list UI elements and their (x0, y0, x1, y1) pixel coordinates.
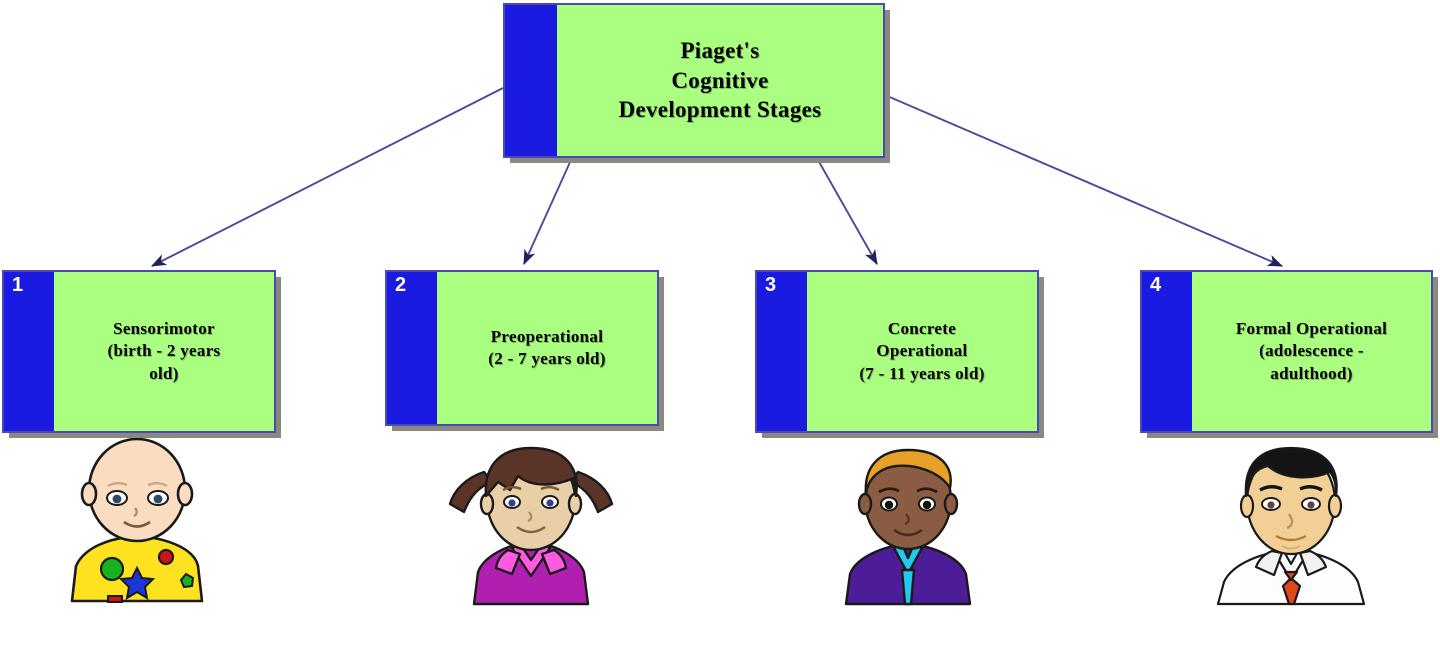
connector-title-to-stage-3 (818, 160, 877, 264)
stage-3-label: Concrete Operational (7 - 11 years old) (859, 318, 984, 384)
stage-3-line-1: Concrete (859, 318, 984, 340)
boy-illustration (828, 438, 988, 606)
young-girl-illustration (448, 438, 614, 606)
stage-box-2[interactable]: 2 Preoperational (2 - 7 years old) (385, 270, 659, 426)
stage-4-accent-bar: 4 (1142, 272, 1192, 431)
stage-2-line-2: (2 - 7 years old) (488, 348, 605, 370)
stage-4-line-3: adulthood) (1236, 363, 1387, 385)
page-title: Piaget's Cognitive Development Stages (619, 36, 822, 126)
stage-2-number: 2 (395, 275, 406, 295)
stage-1-body: Sensorimotor (birth - 2 years old) (54, 272, 274, 431)
connector-title-to-stage-2 (524, 160, 571, 264)
stage-4-label: Formal Operational (adolescence - adulth… (1236, 318, 1387, 384)
title-line-3: Development Stages (619, 95, 822, 125)
stage-2-accent-bar: 2 (387, 272, 437, 424)
stage-4-body: Formal Operational (adolescence - adulth… (1192, 272, 1431, 431)
connector-title-to-stage-4 (885, 95, 1282, 266)
title-box-accent-bar (505, 5, 557, 156)
title-box-body: Piaget's Cognitive Development Stages (557, 5, 883, 156)
stage-box-3[interactable]: 3 Concrete Operational (7 - 11 years old… (755, 270, 1039, 433)
stage-1-label: Sensorimotor (birth - 2 years old) (108, 318, 221, 384)
stage-4-line-2: (adolescence - (1236, 340, 1387, 362)
stage-2-line-1: Preoperational (488, 326, 605, 348)
stage-1-number: 1 (12, 275, 23, 295)
title-line-1: Piaget's (619, 36, 822, 66)
stage-1-line-3: old) (108, 363, 221, 385)
stage-4-line-1: Formal Operational (1236, 318, 1387, 340)
adult-man-illustration (1206, 438, 1376, 606)
title-line-2: Cognitive (619, 66, 822, 96)
stage-4-number: 4 (1150, 275, 1161, 295)
stage-3-accent-bar: 3 (757, 272, 807, 431)
stage-2-label: Preoperational (2 - 7 years old) (488, 326, 605, 370)
stage-box-1[interactable]: 1 Sensorimotor (birth - 2 years old) (2, 270, 276, 433)
stage-1-accent-bar: 1 (4, 272, 54, 431)
stage-3-body: Concrete Operational (7 - 11 years old) (807, 272, 1037, 431)
diagram-canvas: Piaget's Cognitive Development Stages 1 … (0, 0, 1440, 645)
stage-3-line-2: Operational (859, 340, 984, 362)
stage-2-body: Preoperational (2 - 7 years old) (437, 272, 657, 424)
stage-3-number: 3 (765, 275, 776, 295)
stage-box-4[interactable]: 4 Formal Operational (adolescence - adul… (1140, 270, 1433, 433)
connector-title-to-stage-1 (152, 88, 503, 266)
stage-1-line-1: Sensorimotor (108, 318, 221, 340)
stage-3-line-3: (7 - 11 years old) (859, 363, 984, 385)
baby-illustration (62, 438, 212, 606)
diagram-title-box[interactable]: Piaget's Cognitive Development Stages (503, 3, 885, 158)
stage-1-line-2: (birth - 2 years (108, 340, 221, 362)
